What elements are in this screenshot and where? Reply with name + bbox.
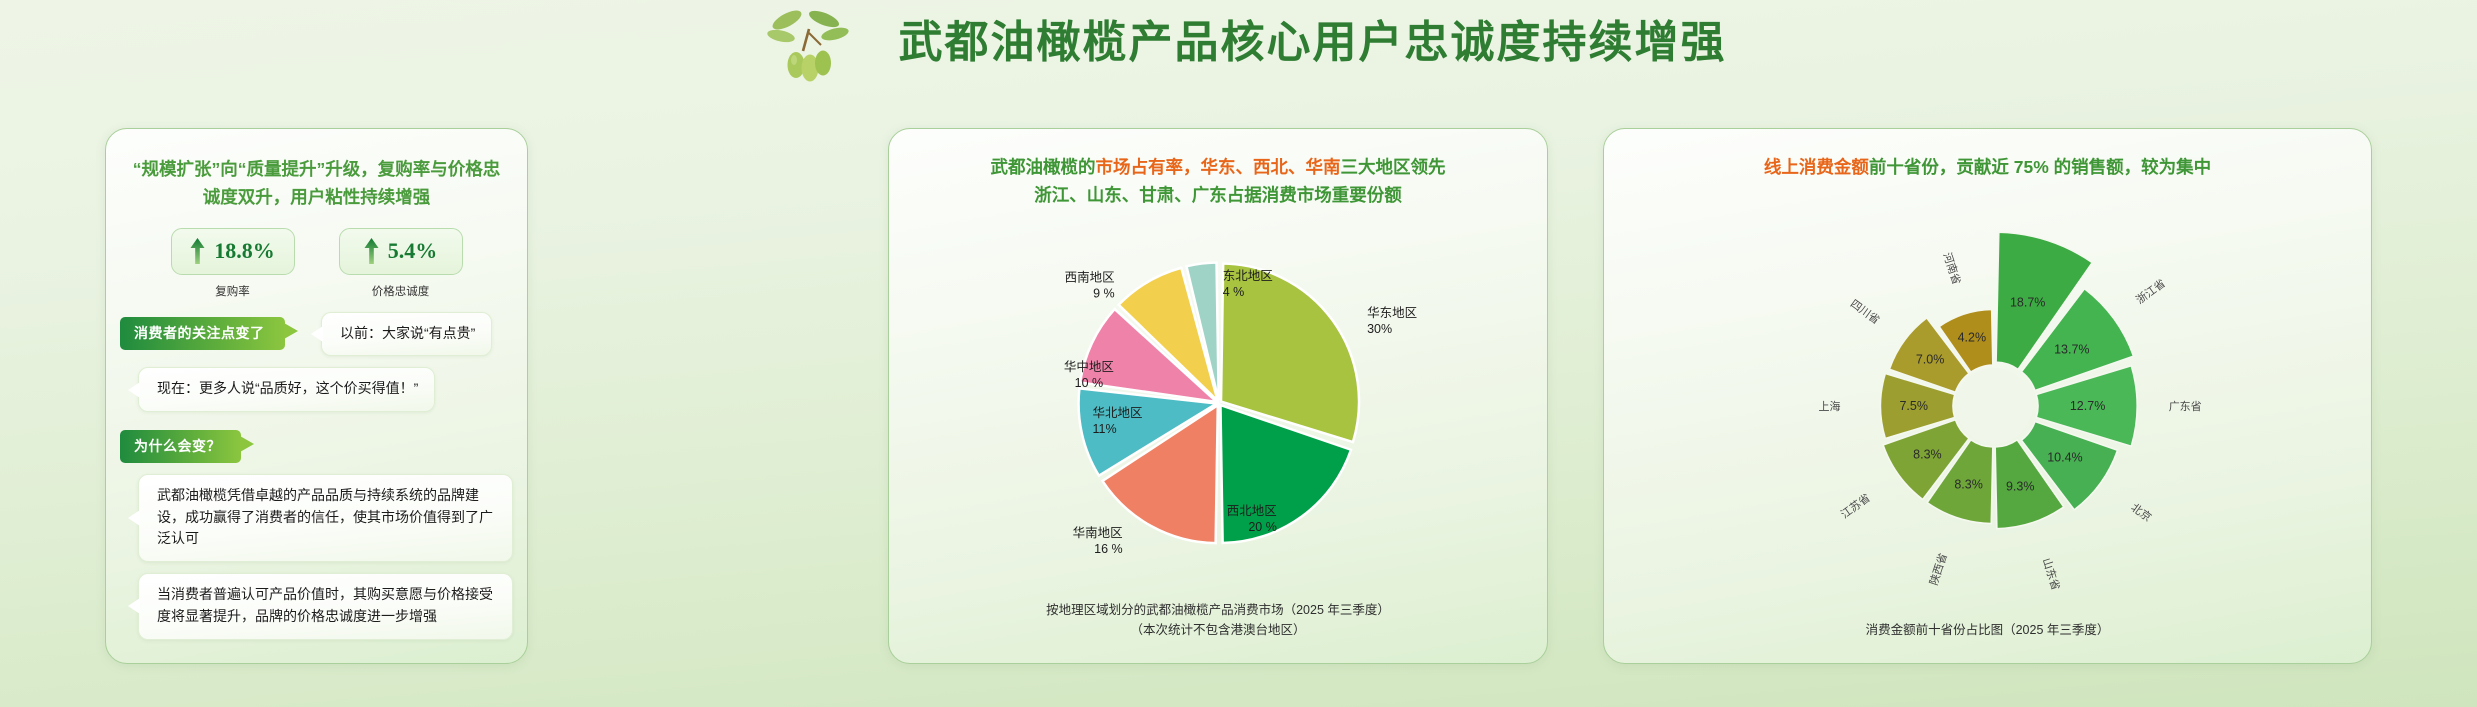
rose-slice-value: 12.7% <box>2070 399 2105 413</box>
metric-badge: 5.4% <box>339 228 463 275</box>
rose-slice-value: 18.7% <box>2010 295 2045 309</box>
metric-repurchase-rate: 18.8% 复购率 <box>171 228 295 299</box>
metric-label: 复购率 <box>171 283 295 299</box>
middle-panel-headline: 武都油橄榄的市场占有率，华东、西北、华南三大地区领先 浙江、山东、甘肃、广东占据… <box>911 153 1525 210</box>
metrics-row: 18.8% 复购率 5.4% 价格忠诚度 <box>106 228 527 299</box>
pie-slice-label: 西南地区9 % <box>1065 269 1115 300</box>
rose-slice-value: 4.2% <box>1958 331 1987 345</box>
rose-slice-value: 8.3% <box>1913 447 1942 461</box>
headline-rest: 前十省份，贡献近 75% 的销售额，较为集中 <box>1869 157 2211 177</box>
olive-branch-icon <box>751 3 871 83</box>
page-title: 武都油橄榄产品核心用户忠诚度持续增强 <box>899 21 1727 65</box>
right-panel-caption: 消费金额前十省份占比图（2025 年三季度） <box>1604 620 2371 641</box>
rose-slice-value: 7.0% <box>1916 353 1945 367</box>
page-header: 武都油橄榄产品核心用户忠诚度持续增强 <box>0 0 2477 86</box>
rose-slice-value: 9.3% <box>2006 480 2035 494</box>
bubble-before: 以前：大家说“有点贵” <box>321 312 492 357</box>
metric-value: 18.8% <box>214 238 275 264</box>
headline-part-accent: 市场占有率，华东、西北、华南 <box>1096 157 1341 177</box>
rose-slice-label: 江苏省 <box>1838 491 1872 521</box>
right-panel-headline: 线上消费金额前十省份，贡献近 75% 的销售额，较为集中 <box>1626 153 2349 181</box>
metric-value: 5.4% <box>388 238 438 264</box>
headline-part-plain: 武都油橄榄的 <box>991 157 1096 177</box>
regional-market-panel: 武都油橄榄的市场占有率，华东、西北、华南三大地区领先 浙江、山东、甘肃、广东占据… <box>888 128 1548 664</box>
pie-slice-label: 华南地区16 % <box>1073 525 1123 556</box>
rose-slice-label: 浙江省 <box>2134 277 2168 307</box>
rose-slice-value: 10.4% <box>2047 451 2082 465</box>
pie-chart-container: 华东地区30%西北地区20 %华南地区16 %华北地区11%华中地区10 %西南… <box>889 221 1547 593</box>
section-tag-consumer-focus: 消费者的关注点变了 <box>120 317 285 350</box>
province-rose-chart: 18.7%甘肃省13.7%浙江省12.7%广东省10.4%北京9.3%山东省8.… <box>1604 221 2372 595</box>
rose-slice-label: 山东省 <box>2040 556 2063 591</box>
pie-slice-label: 华东地区30% <box>1367 305 1417 336</box>
rose-slice-value: 7.5% <box>1899 399 1928 413</box>
rose-slice-label: 陕西省 <box>1926 551 1950 587</box>
headline-line2: 浙江、山东、甘肃、广东占据消费市场重要份额 <box>911 181 1525 209</box>
bubble-reason-value: 当消费者普遍认可产品价值时，其购买意愿与价格接受度将显著提升，品牌的价格忠诚度进… <box>138 573 513 639</box>
rose-slice-value: 13.7% <box>2054 342 2089 356</box>
bubble-now: 现在：更多人说“品质好，这个价买得值！” <box>138 367 435 412</box>
up-arrow-icon <box>190 238 205 264</box>
rose-slice-label: 北京 <box>2128 500 2154 524</box>
caption-line-1: 按地理区域划分的武都油橄榄产品消费市场（2025 年三季度） <box>889 600 1547 621</box>
caption-line-2: （本次统计不包含港澳台地区） <box>889 620 1547 641</box>
middle-panel-caption: 按地理区域划分的武都油橄榄产品消费市场（2025 年三季度） （本次统计不包含港… <box>889 600 1547 641</box>
rose-slice-label: 上海 <box>1818 399 1840 413</box>
metric-badge: 18.8% <box>171 228 295 275</box>
section-tag-why-changed: 为什么会变？ <box>120 430 241 463</box>
region-pie-chart: 华东地区30%西北地区20 %华南地区16 %华北地区11%华中地区10 %西南… <box>889 221 1548 595</box>
loyalty-insight-panel: “规模扩张”向“质量提升”升级，复购率与价格忠诚度双升，用户粘性持续增强 18.… <box>105 128 528 664</box>
donut-hole <box>1956 368 2032 444</box>
bubble-reason-quality: 武都油橄榄凭借卓越的产品品质与持续系统的品牌建设，成功赢得了消费者的信任，使其市… <box>138 474 513 562</box>
rose-slice-label: 河南省 <box>1940 251 1963 286</box>
up-arrow-icon <box>364 238 379 264</box>
rose-slice-label: 广东省 <box>2169 400 2202 413</box>
caption-line-1: 消费金额前十省份占比图（2025 年三季度） <box>1604 620 2371 641</box>
left-panel-headline: “规模扩张”向“质量提升”升级，复购率与价格忠诚度双升，用户粘性持续增强 <box>132 155 501 212</box>
rose-slice-value: 8.3% <box>1954 477 1983 491</box>
province-revenue-panel: 线上消费金额前十省份，贡献近 75% 的销售额，较为集中 18.7%甘肃省13.… <box>1603 128 2372 664</box>
headline-part-plain2: 三大地区领先 <box>1341 157 1446 177</box>
rose-chart-container: 18.7%甘肃省13.7%浙江省12.7%广东省10.4%北京9.3%山东省8.… <box>1604 221 2371 593</box>
rose-slice-label: 四川省 <box>1848 297 1882 327</box>
headline-accent: 线上消费金额 <box>1764 157 1869 177</box>
metric-price-loyalty: 5.4% 价格忠诚度 <box>339 228 463 299</box>
metric-label: 价格忠诚度 <box>339 283 463 299</box>
